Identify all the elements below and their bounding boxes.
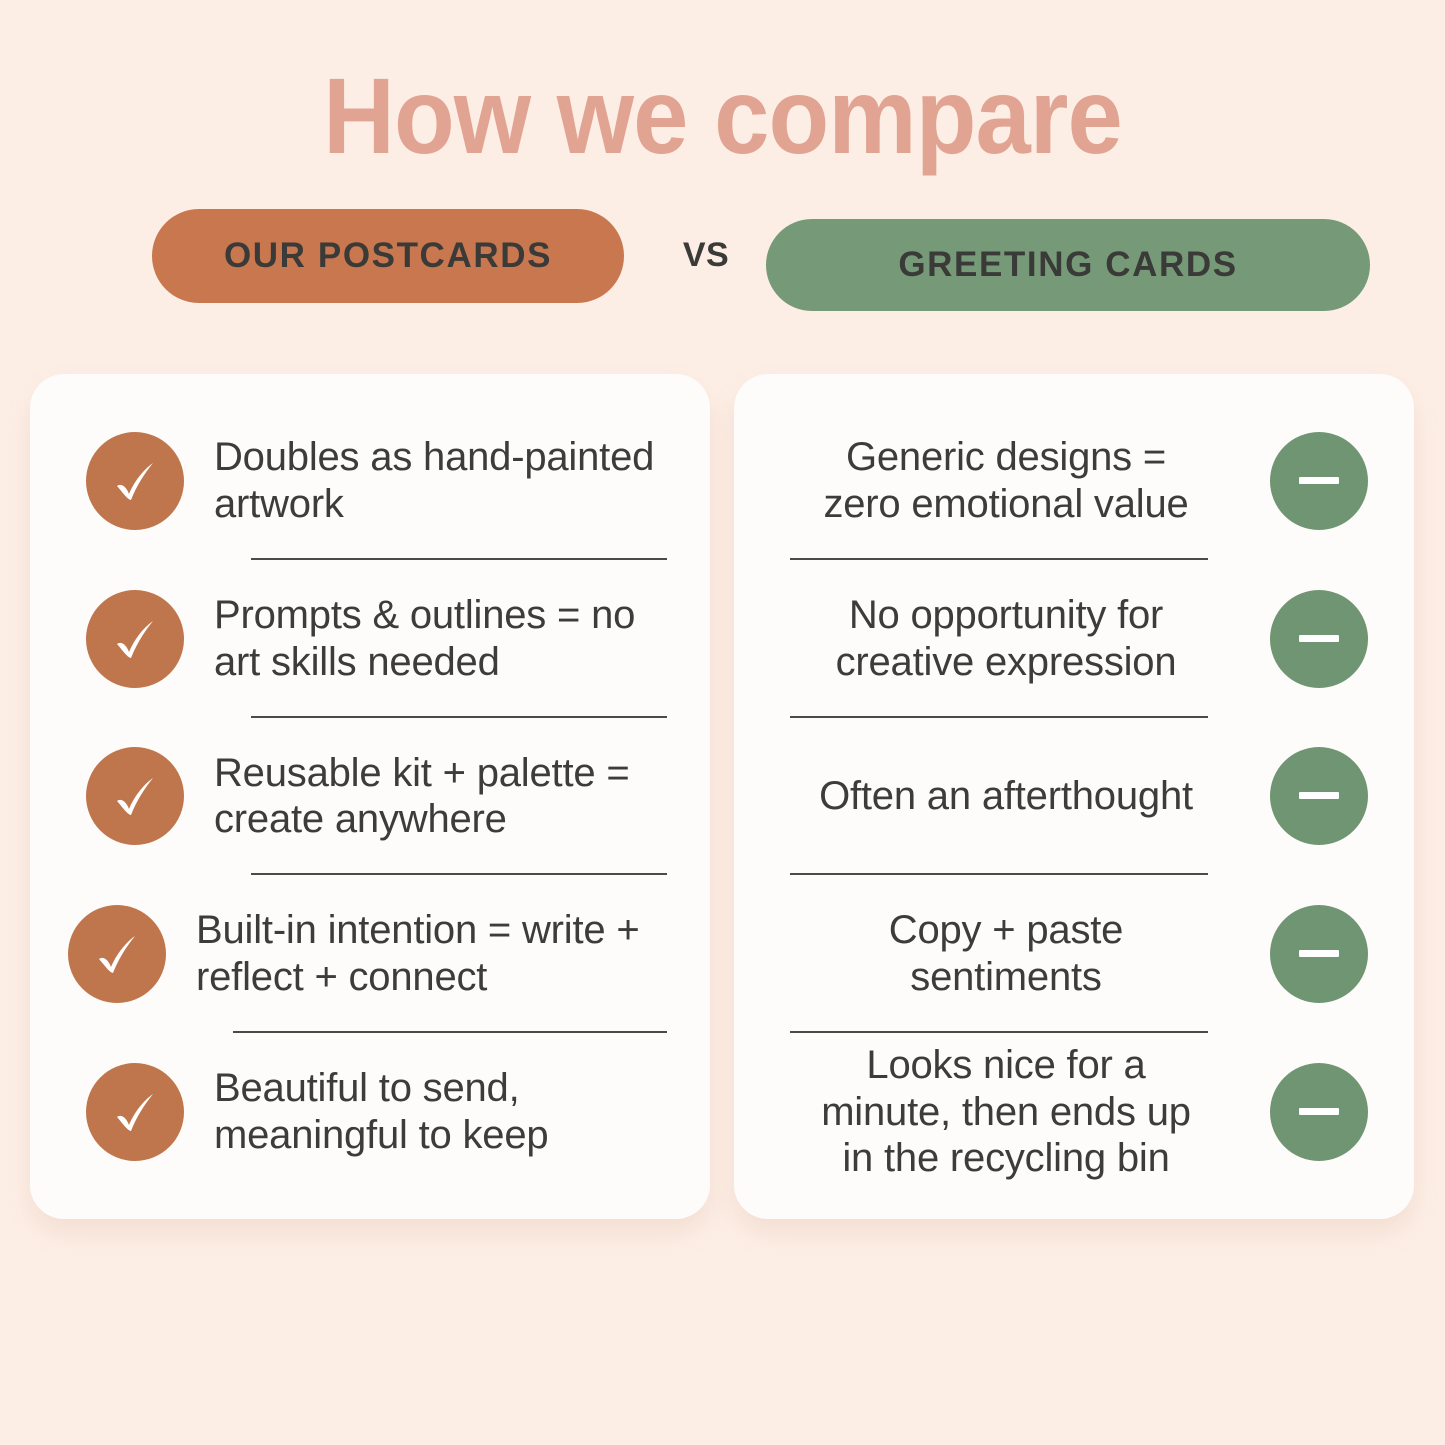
check-icon	[86, 590, 184, 688]
greeting-cards-card: Generic designs = zero emotional value N…	[734, 374, 1414, 1219]
comparison-header: OUR POSTCARDS VS GREETING CARDS	[0, 206, 1445, 316]
list-item-label: Generic designs = zero emotional value	[768, 434, 1244, 528]
pill-greeting-cards[interactable]: GREETING CARDS	[766, 219, 1370, 311]
list-item: Reusable kit + palette = create anywhere	[86, 718, 676, 876]
list-item: Often an afterthought	[768, 718, 1368, 876]
list-item-label: Reusable kit + palette = create anywhere	[214, 750, 676, 844]
list-item-label: Beautiful to send, meaningful to keep	[214, 1065, 676, 1159]
list-item-label: No opportunity for creative expression	[768, 592, 1244, 686]
list-item: Prompts & outlines = no art skills neede…	[86, 560, 676, 718]
check-icon	[86, 747, 184, 845]
minus-icon	[1270, 590, 1368, 688]
versus-label: VS	[660, 236, 752, 275]
our-postcards-card: Doubles as hand-painted artwork Prompts …	[30, 374, 710, 1219]
minus-icon	[1270, 747, 1368, 845]
minus-icon	[1270, 432, 1368, 530]
page-title: How we compare	[58, 62, 1387, 170]
pill-greeting-cards-label: GREETING CARDS	[898, 245, 1237, 285]
list-item-label: Often an afterthought	[768, 773, 1244, 820]
pill-our-postcards-label: OUR POSTCARDS	[224, 236, 552, 276]
check-icon	[86, 432, 184, 530]
list-item: No opportunity for creative expression	[768, 560, 1368, 718]
list-item-label: Doubles as hand-painted artwork	[214, 434, 676, 528]
list-item: Generic designs = zero emotional value	[768, 402, 1368, 560]
minus-icon	[1270, 1063, 1368, 1161]
list-item: Looks nice for a minute, then ends up in…	[768, 1033, 1368, 1191]
list-item: Copy + paste sentiments	[768, 875, 1368, 1033]
list-item: Doubles as hand-painted artwork	[86, 402, 676, 560]
list-item-label: Built-in intention = write + reflect + c…	[196, 907, 676, 1001]
check-icon	[86, 1063, 184, 1161]
minus-icon	[1270, 905, 1368, 1003]
pill-our-postcards[interactable]: OUR POSTCARDS	[152, 209, 624, 303]
our-postcards-list: Doubles as hand-painted artwork Prompts …	[86, 402, 676, 1191]
list-item: Built-in intention = write + reflect + c…	[68, 875, 676, 1033]
list-item-label: Copy + paste sentiments	[768, 907, 1244, 1001]
greeting-cards-list: Generic designs = zero emotional value N…	[768, 402, 1368, 1191]
check-icon	[68, 905, 166, 1003]
list-item-label: Looks nice for a minute, then ends up in…	[768, 1042, 1244, 1182]
list-item-label: Prompts & outlines = no art skills neede…	[214, 592, 676, 686]
list-item: Beautiful to send, meaningful to keep	[86, 1033, 676, 1191]
